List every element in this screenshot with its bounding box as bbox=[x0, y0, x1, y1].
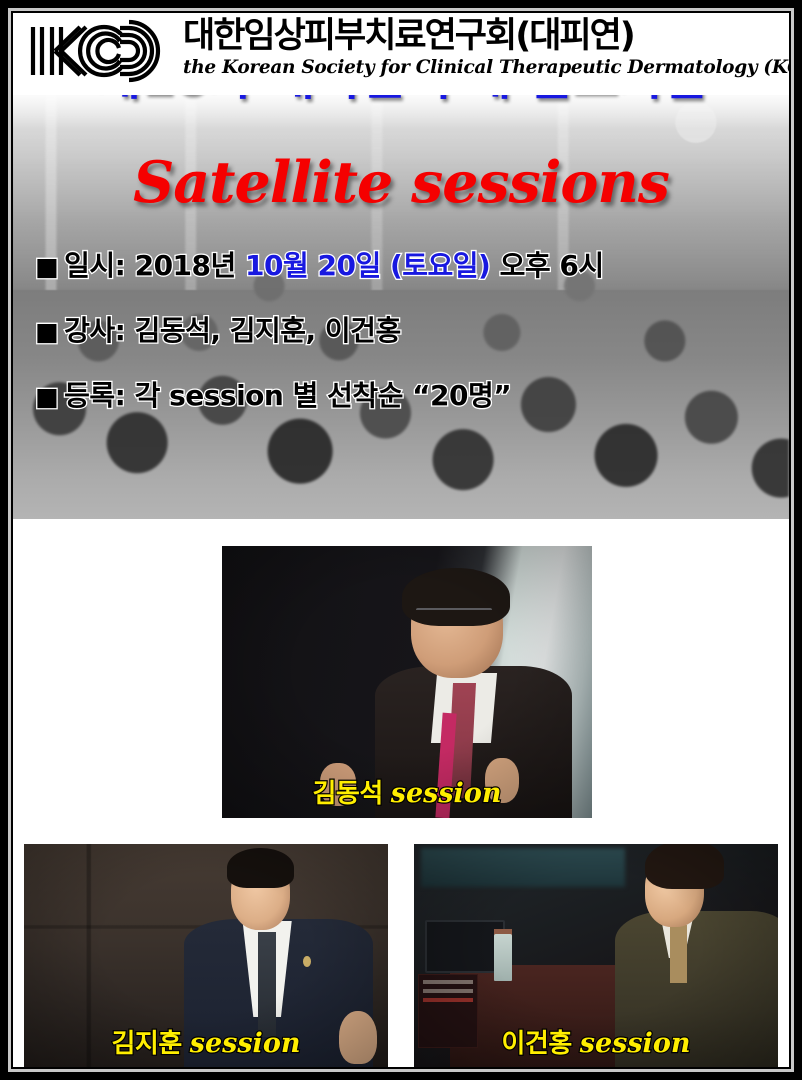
info-line-registration: ■등록: 각 session 별 선착순 “20명” bbox=[35, 379, 771, 414]
caption-session-word-3: session bbox=[580, 1028, 691, 1059]
info-label-speakers: 강사: bbox=[64, 314, 125, 347]
p2-necktie bbox=[258, 932, 276, 1037]
info-line-speakers: ■강사: 김동석, 김지훈, 이건홍 bbox=[35, 314, 771, 349]
p3-necktie bbox=[670, 925, 687, 983]
society-logo-row: 대한임상피부치료연구회(대피연) the Korean Society for … bbox=[25, 16, 791, 84]
info-line-date: ■일시: 2018년 10월 20일 (토요일) 오후 6시 bbox=[35, 249, 771, 284]
caption-session-word-2: session bbox=[190, 1028, 301, 1059]
kcd-logo-icon bbox=[25, 18, 173, 84]
p2-hair bbox=[227, 848, 293, 888]
speaker-photo-gallery: 김동석session bbox=[13, 519, 789, 1067]
poster-root: 제10차 대피연 추계 심포지엄 Satellite sessions ■일시:… bbox=[0, 0, 802, 1080]
satellite-sessions-title: Satellite sessions bbox=[13, 149, 789, 216]
poster-header: 대한임상피부치료연구회(대피연) the Korean Society for … bbox=[13, 13, 789, 95]
info-registration-value: 각 session 별 선착순 “20명” bbox=[125, 379, 511, 412]
speaker-photo-lee-geonhong[interactable]: 이건홍session bbox=[414, 844, 778, 1068]
society-name-korean: 대한임상피부치료연구회(대피연) bbox=[183, 16, 791, 56]
caption-name-kim-jihoon: 김지훈 bbox=[112, 1029, 182, 1059]
info-speakers-value: 김동석, 김지훈, 이건홍 bbox=[125, 314, 400, 347]
info-date-after: 오후 6시 bbox=[490, 249, 603, 282]
info-label-date: 일시: bbox=[64, 249, 125, 282]
photo-caption-kim-dongseok: 김동석session bbox=[222, 773, 592, 810]
p3-water-bottle bbox=[494, 934, 512, 981]
poster-canvas: 제10차 대피연 추계 심포지엄 Satellite sessions ■일시:… bbox=[13, 13, 789, 1067]
p3-hair bbox=[645, 844, 724, 889]
society-name-english: the Korean Society for Clinical Therapeu… bbox=[183, 57, 791, 79]
photo-caption-kim-jihoon: 김지훈session bbox=[24, 1023, 388, 1060]
p3-sign-line-1 bbox=[423, 980, 473, 984]
photo-caption-lee-geonhong: 이건홍session bbox=[414, 1023, 778, 1060]
p3-sign-line-2 bbox=[423, 989, 473, 993]
bullet-icon: ■ bbox=[35, 252, 58, 281]
info-label-registration: 등록: bbox=[64, 379, 125, 412]
society-names: 대한임상피부치료연구회(대피연) the Korean Society for … bbox=[183, 16, 791, 79]
caption-session-word-1: session bbox=[391, 778, 502, 809]
speaker-photo-kim-jihoon[interactable]: 김지훈session bbox=[24, 844, 388, 1068]
p3-sign-line-3 bbox=[423, 998, 473, 1002]
p2-lapel-pin-icon bbox=[303, 956, 311, 967]
p1-eyeglasses-icon bbox=[416, 608, 492, 623]
poster-inner-border: 제10차 대피연 추계 심포지엄 Satellite sessions ■일시:… bbox=[11, 11, 791, 1069]
info-date-before: 2018년 bbox=[125, 249, 245, 282]
caption-name-kim-dongseok: 김동석 bbox=[313, 779, 383, 809]
caption-name-lee-geonhong: 이건홍 bbox=[502, 1029, 572, 1059]
event-info-list: ■일시: 2018년 10월 20일 (토요일) 오후 6시 ■강사: 김동석,… bbox=[35, 249, 771, 444]
bullet-icon: ■ bbox=[35, 317, 58, 346]
bullet-icon: ■ bbox=[35, 382, 58, 411]
p3-projection-screen bbox=[421, 848, 625, 886]
speaker-photo-kim-dongseok[interactable]: 김동석session bbox=[222, 546, 592, 818]
info-date-highlight: 10월 20일 (토요일) bbox=[245, 249, 490, 282]
